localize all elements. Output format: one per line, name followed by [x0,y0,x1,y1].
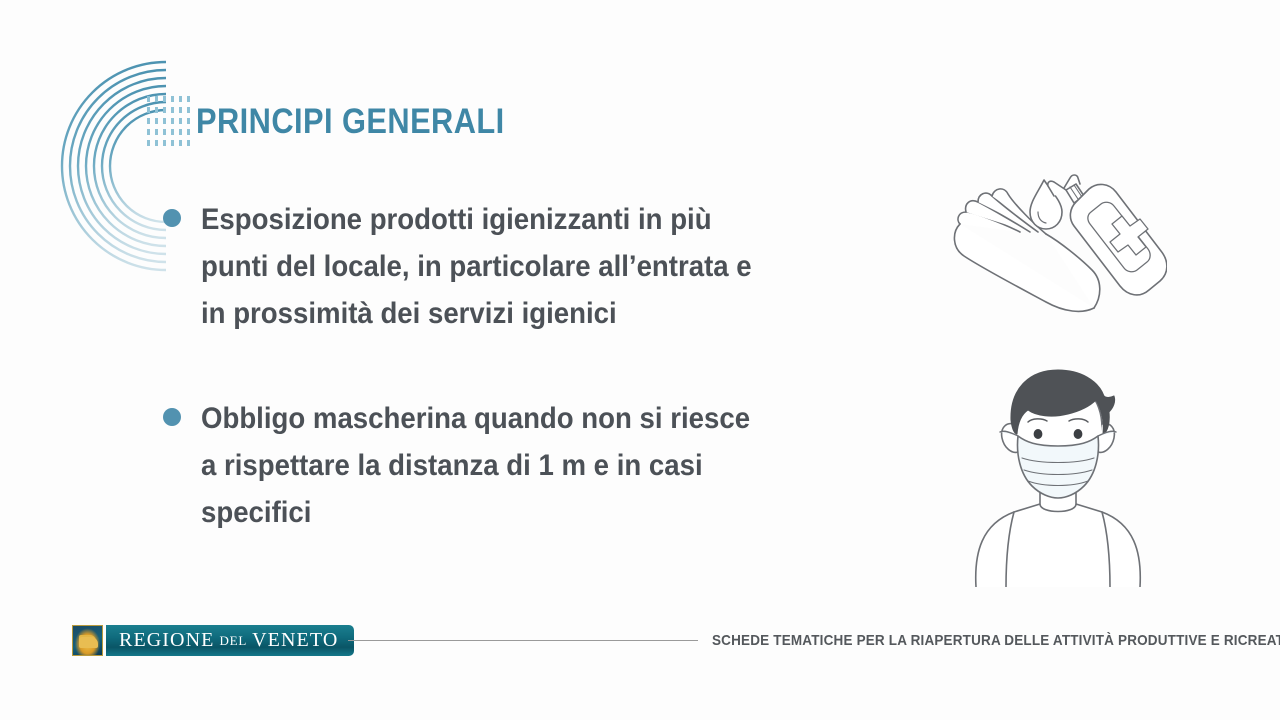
sanitizer-bottle [1048,175,1167,295]
page-title: PRINCIPI GENERALI [196,101,505,143]
lion-of-saint-mark-icon [72,625,103,656]
bullet-text: Esposizione prodotti igienizzanti in più… [201,196,752,337]
footer-tagline: SCHEDE TEMATICHE PER LA RIAPERTURA DELLE… [712,631,1280,651]
regione-veneto-logo: REGIONE del VENETO [72,625,354,657]
bullet-list: Esposizione prodotti igienizzanti in più… [163,196,903,594]
logo-del-text: del [219,633,247,649]
bullet-dot-icon [163,408,181,426]
logo-main-text: REGIONE [119,629,214,652]
bullet-text: Obbligo mascherina quando non si riesce … [201,395,750,536]
list-item: Esposizione prodotti igienizzanti in più… [163,196,903,337]
hand-sanitizer-illustration [942,162,1167,352]
footer: REGIONE del VENETO SCHEDE TEMATICHE PER … [0,618,1280,670]
body-shape [976,504,1141,587]
slide-canvas: PRINCIPI GENERALI Esposizione prodotti i… [0,0,1280,720]
logo-wordmark: REGIONE del VENETO [106,625,354,656]
dot-grid [147,96,190,146]
masked-person-illustration [948,362,1168,587]
footer-divider [348,640,698,641]
logo-region-text: VENETO [252,629,338,652]
bullet-dot-icon [163,209,181,227]
list-item: Obbligo mascherina quando non si riesce … [163,395,903,536]
arc-group [62,62,166,270]
